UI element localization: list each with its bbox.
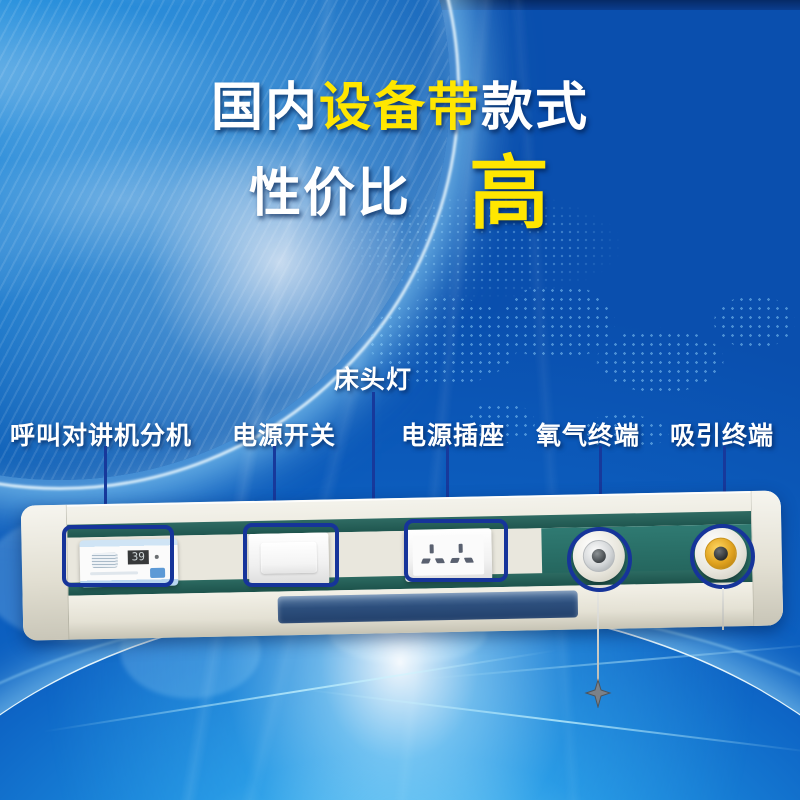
headline-block: 国内设备带款式 性价比高: [0, 82, 800, 234]
callout-label-suction-terminal: 吸引终端: [670, 416, 774, 452]
headline-text-yellow: 设备带: [319, 79, 481, 137]
suction-pull-cord: [722, 588, 724, 630]
product-promo-image: 国内设备带款式 性价比高 呼叫对讲机分机 电源开关 床头灯 电源插座 氧气终端 …: [0, 0, 800, 800]
highlight-circle-oxygen-terminal: [567, 527, 632, 592]
headline-subtext-yellow: 高: [469, 149, 551, 238]
oxygen-pull-cord: [597, 592, 599, 690]
highlight-box-call-intercom-extension: [62, 525, 174, 587]
callout-label-power-socket: 电源插座: [401, 416, 505, 452]
unit-end-cap-right: [751, 490, 784, 626]
highlight-circle-suction-terminal: [690, 524, 755, 589]
callout-label-call-intercom-extension: 呼叫对讲机分机: [10, 416, 192, 452]
callout-label-power-switch: 电源开关: [232, 416, 336, 452]
headline-text-white-a: 国内: [211, 79, 319, 137]
highlight-box-power-socket: [404, 519, 508, 582]
callout-label-bed-head-lamp: 床头灯: [334, 360, 412, 396]
headline-line-1: 国内设备带款式: [0, 82, 800, 134]
headline-line-2: 性价比高: [0, 154, 800, 234]
highlight-box-power-switch: [243, 523, 339, 587]
headline-text-white-b: 款式: [481, 79, 589, 137]
callout-label-oxygen-terminal: 氧气终端: [536, 416, 640, 452]
cord-connector-icon: [583, 678, 613, 708]
headline-subtext-white: 性价比: [249, 165, 411, 223]
